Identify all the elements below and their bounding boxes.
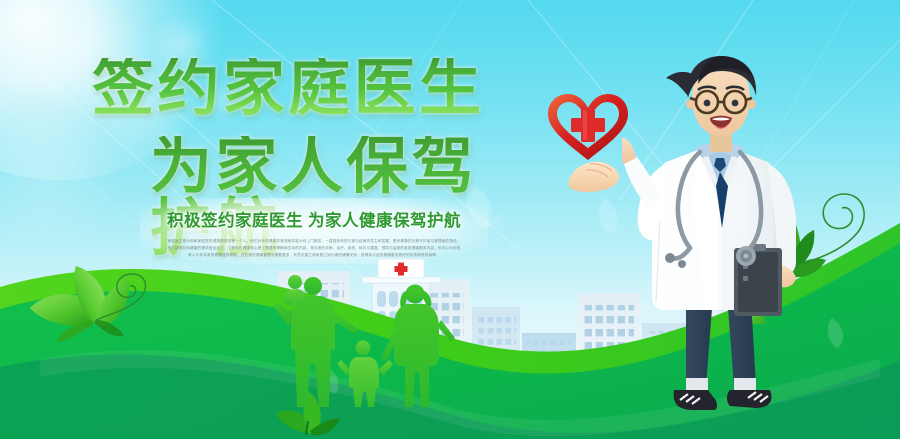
health-poster: 签约家庭医生 为家人保驾护航 积极签约家庭医生 为家人健康保驾护航 家庭医生是为… — [0, 0, 900, 439]
body-line-2: 他们能够对你健康的需求做出反应，了解你在健康和心理上需要的帮助和支持的内容，常见… — [152, 245, 476, 252]
body-line-3: 家人与你本身的健康提供帮助，在日常的健康管理中需要更多，有意识建立和家庭之间长期… — [152, 252, 476, 259]
body-line-1: 家庭医生是为你和家庭提供健康服务的第一个人，他们对你的健康非常熟悉并能为你上门服… — [152, 238, 476, 245]
family-silhouette — [255, 272, 455, 407]
shoes — [674, 390, 772, 410]
head — [666, 56, 756, 152]
body-paragraph: 家庭医生是为你和家庭提供健康服务的第一个人，他们对你的健康非常熟悉并能为你上门服… — [140, 238, 488, 259]
medical-cross-icon — [571, 108, 605, 142]
stethoscope-chestpiece — [736, 246, 756, 266]
headline-line-1: 签约家庭医生 — [0, 58, 540, 120]
mother-silhouette — [381, 285, 455, 408]
subtitle-text: 积极签约家庭医生 为家人健康保驾护航 — [140, 198, 488, 231]
leaf-cluster-icon — [4, 252, 164, 360]
subtitle-banner: 积极签约家庭医生 为家人健康保驾护航 家庭医生是为你和家庭提供健康服务的第一个人… — [140, 198, 488, 264]
doctor-illustration — [622, 52, 828, 439]
baby-silhouette — [284, 275, 305, 306]
open-hand — [568, 162, 619, 192]
